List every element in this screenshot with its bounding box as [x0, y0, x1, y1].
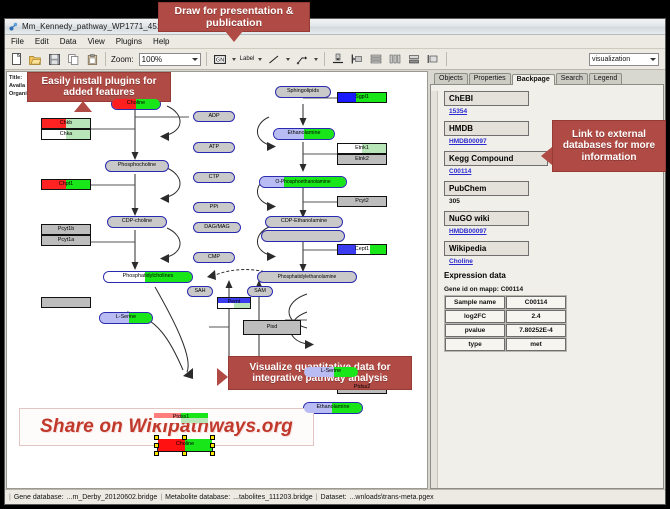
datanode-icon[interactable]: GN	[212, 51, 228, 68]
db-header-pubchem: PubChem	[444, 181, 529, 196]
status-gene-database-value: ...m_Derby_20120602.bridge	[67, 494, 158, 501]
callout-text: Link to external databases for more info…	[557, 129, 661, 164]
node-label: Phosphatidylethanolamine	[278, 275, 337, 280]
node-ethanolamine-top[interactable]: Ethanolamine	[273, 128, 335, 140]
node-pemt[interactable]: Pemt	[217, 297, 251, 309]
menu-bar[interactable]: File Edit Data View Plugins Help	[5, 35, 665, 49]
node-label: SAH	[194, 289, 205, 294]
node-choline-selected[interactable]: Choline	[157, 438, 213, 452]
node-label: Choline	[176, 442, 194, 447]
node-label: CDP-choline	[122, 219, 152, 224]
node-label: CMP	[208, 255, 220, 260]
zoom-value: 100%	[142, 55, 162, 64]
chevron-down-icon[interactable]	[258, 58, 262, 61]
db-link-nugo-wiki[interactable]: HMDB00097	[449, 228, 655, 235]
expression-data-table: Sample name C00114 log2FC 2.4 pvalue 7.8…	[444, 295, 567, 352]
selection-handle[interactable]	[154, 435, 159, 440]
line-icon[interactable]	[266, 51, 282, 68]
node-label: Pcyt1a	[58, 238, 74, 243]
node-l-serine-right[interactable]: L-Serine	[303, 366, 359, 378]
node-label: Sgpl1	[355, 95, 369, 100]
node-chka[interactable]: Chka	[41, 129, 91, 140]
node-label: Ethanolamine	[288, 131, 321, 136]
selection-handle[interactable]	[154, 451, 159, 456]
node-label: L-Serine	[116, 315, 136, 320]
node-phosphocholine[interactable]: Phosphocholine	[105, 160, 169, 172]
selection-handle[interactable]	[210, 435, 215, 440]
selection-handle[interactable]	[182, 451, 187, 456]
toolbar-separator	[206, 52, 207, 66]
node-cdp-ethanolamine-2[interactable]: CDP-Ethanolamine	[265, 216, 343, 228]
node-etnk1[interactable]: Etnk1	[337, 143, 387, 154]
new-icon[interactable]	[8, 51, 24, 68]
chevron-down-icon[interactable]	[286, 58, 290, 61]
node-label: CTP	[209, 175, 220, 180]
node-label: PPi	[210, 205, 218, 210]
toolbar-separator	[446, 52, 447, 66]
callout-link-arrow-icon	[541, 147, 552, 165]
pathvisio-icon	[9, 22, 18, 31]
toolbar-separator	[105, 52, 106, 66]
zoom-label: Zoom:	[111, 55, 134, 64]
status-dataset-value: ...wnloads\trans-meta.pgex	[350, 494, 434, 501]
save-icon[interactable]	[46, 51, 62, 68]
status-divider: |	[160, 494, 162, 501]
node-ethanolamine-bottom[interactable]: Ethanolamine	[303, 402, 363, 414]
cell-value: C00114	[506, 296, 566, 309]
callout-link: Link to external databases for more info…	[552, 120, 666, 172]
backpage-scrollbar[interactable]	[431, 91, 438, 488]
chevron-down-icon[interactable]	[192, 58, 198, 61]
node-label: Ethanolamine	[317, 405, 350, 410]
node-pcyt2[interactable]: Pcyt2	[337, 196, 387, 207]
stack-vertical-icon[interactable]	[368, 51, 384, 68]
cell-value: 2.4	[506, 310, 566, 323]
node-label: Etnk2	[355, 157, 369, 162]
common-width-icon[interactable]	[406, 51, 422, 68]
menu-view[interactable]: View	[87, 37, 106, 46]
status-metabolite-database-value: ...tabolites_111203.bridge	[233, 494, 313, 501]
toolbar-separator	[324, 52, 325, 66]
node-label: DAG/MAG	[204, 225, 229, 230]
node-label: SAM	[254, 289, 266, 294]
callout-draw-arrow-icon	[225, 31, 243, 42]
status-dataset-label: Dataset:	[321, 494, 347, 501]
tab-properties[interactable]: Properties	[469, 73, 511, 84]
node-ptdss1[interactable]: Ptdss1	[153, 412, 209, 424]
chevron-down-icon[interactable]	[314, 58, 318, 61]
node-label: Sphingolipids	[287, 89, 319, 94]
visualization-value: visualization	[592, 56, 630, 63]
visualization-combo[interactable]: visualization	[589, 53, 659, 66]
cell-key: log2FC	[445, 310, 505, 323]
status-divider: |	[9, 494, 11, 501]
db-link-chebi[interactable]: 15354	[449, 108, 655, 115]
node-label: Pcyt2	[355, 199, 368, 204]
selection-handle[interactable]	[154, 443, 159, 448]
node-label: CDP-Ethanolamine	[281, 219, 327, 224]
tab-search[interactable]: Search	[556, 73, 588, 84]
tool-bar[interactable]: Zoom: 100% GN Label	[5, 49, 665, 70]
node-label: Phosphatidylcholines	[123, 274, 174, 279]
db-header-hmdb: HMDB	[444, 121, 529, 136]
node-label: Etnk1	[355, 146, 369, 151]
cell-value: 7.80252E-4	[506, 324, 566, 337]
menu-data[interactable]: Data	[59, 37, 78, 46]
node-label: Chkb	[60, 121, 73, 126]
table-row: Sample name C00114	[445, 296, 566, 309]
node-phosphatidylcholines[interactable]: Phosphatidylcholines	[103, 271, 193, 283]
node-cdp-ethanolamine[interactable]	[261, 230, 345, 242]
tab-backpage[interactable]: Backpage	[512, 74, 555, 85]
table-row: log2FC 2.4	[445, 310, 566, 323]
node-label: Chpt1	[59, 182, 73, 187]
interaction-icon[interactable]	[294, 51, 310, 68]
callout-text: Draw for presentation & publication	[163, 5, 305, 29]
cell-key: pvalue	[445, 324, 505, 337]
node-sah[interactable]: SAH	[187, 286, 213, 297]
table-row: pvalue 7.80252E-4	[445, 324, 566, 337]
node-label: ADP	[208, 114, 219, 119]
db-value-pubchem: 305	[449, 198, 655, 205]
node-cept1[interactable]: Cept1	[337, 244, 387, 255]
callout-plugins: Easily install plugins for added feature…	[27, 72, 171, 102]
node-pcyt1b[interactable]	[41, 297, 91, 308]
node-etnk2[interactable]: Etnk2	[337, 154, 387, 165]
open-folder-icon[interactable]	[27, 51, 43, 68]
node-pisd[interactable]: Pisd	[243, 320, 301, 335]
node-label: Ptdss1	[173, 415, 189, 420]
node-ppi[interactable]: PPi	[193, 202, 235, 213]
node-atp[interactable]: ATP	[193, 142, 235, 153]
node-sphingolipids[interactable]: Sphingolipids	[275, 86, 331, 98]
node-label: Pemt	[228, 300, 241, 305]
tab-legend[interactable]: Legend	[589, 73, 622, 84]
db-header-kegg-compound: Kegg Compound	[444, 151, 548, 166]
node-phosphatidylethanolamine[interactable]: Phosphatidylethanolamine	[257, 271, 357, 283]
node-label: Phosphocholine	[118, 163, 156, 168]
node-l-serine-left[interactable]: L-Serine	[99, 312, 153, 324]
node-pcyt1a[interactable]: Pcyt1a	[41, 235, 91, 246]
db-header-nugo-wiki: NuGO wiki	[444, 211, 529, 226]
node-label: Pisd	[267, 325, 278, 330]
db-link-wikipedia[interactable]: Choline	[449, 258, 655, 265]
menu-edit[interactable]: Edit	[34, 37, 50, 46]
callout-visualize-arrow-icon	[217, 368, 228, 386]
align-left-icon[interactable]	[349, 51, 365, 68]
chevron-down-icon[interactable]	[232, 58, 236, 61]
node-ctp[interactable]: CTP	[193, 172, 235, 183]
expression-data-title: Expression data	[444, 271, 655, 280]
node-label: Choline	[127, 101, 145, 106]
db-header-chebi: ChEBI	[444, 91, 529, 106]
node-label: ATP	[209, 145, 219, 150]
menu-help[interactable]: Help	[152, 37, 170, 46]
label-dropdown-label[interactable]: Label	[240, 56, 255, 62]
menu-plugins[interactable]: Plugins	[115, 37, 143, 46]
node-pcyt1b-2[interactable]: Pcyt1b	[41, 224, 91, 235]
selection-handle[interactable]	[182, 435, 187, 440]
node-sam[interactable]: SAM	[247, 286, 273, 297]
common-height-icon[interactable]	[425, 51, 441, 68]
zoom-combo[interactable]: 100%	[139, 53, 201, 66]
align-bottom-icon[interactable]	[330, 51, 346, 68]
node-dag-mag[interactable]: DAG/MAG	[193, 222, 241, 233]
pathway-canvas[interactable]: Title: Availa Organi	[6, 71, 428, 489]
node-o-phosphoethanolamine[interactable]: O-Phosphoethanolamine	[259, 176, 347, 188]
selection-handle[interactable]	[210, 443, 215, 448]
node-cdp-choline[interactable]: CDP-choline	[107, 216, 167, 228]
paste-icon[interactable]	[84, 51, 100, 68]
cell-key: type	[445, 338, 505, 351]
callout-plugins-arrow-icon	[74, 101, 92, 112]
node-label: L-Serine	[321, 369, 341, 374]
tab-objects[interactable]: Objects	[434, 73, 468, 84]
status-gene-database-label: Gene database:	[14, 494, 64, 501]
node-label: Pcyt1b	[58, 227, 74, 232]
node-adp[interactable]: ADP	[193, 111, 235, 122]
node-label: Cept1	[355, 247, 369, 252]
node-sgpl1[interactable]: Sgpl1	[337, 92, 387, 103]
svg-text:GN: GN	[215, 57, 224, 63]
selection-handle[interactable]	[210, 451, 215, 456]
callout-draw: Draw for presentation & publication	[158, 2, 310, 32]
menu-file[interactable]: File	[10, 37, 25, 46]
gene-id-on-mapp: Gene id on mapp: C00114	[444, 286, 655, 293]
status-metabolite-database-label: Metabolite database:	[165, 494, 230, 501]
distribute-horizontal-icon[interactable]	[387, 51, 403, 68]
db-header-wikipedia: Wikipedia	[444, 241, 529, 256]
cell-value: met	[506, 338, 566, 351]
node-choline-top[interactable]: Choline	[111, 98, 161, 110]
copy-icon[interactable]	[65, 51, 81, 68]
chevron-down-icon[interactable]	[650, 58, 656, 61]
node-label: Ptdss2	[354, 385, 370, 390]
node-chpt1[interactable]: Chpt1	[41, 179, 91, 190]
node-label: Chka	[60, 132, 73, 137]
node-label: O-Phosphoethanolamine	[275, 180, 330, 185]
table-row: type met	[445, 338, 566, 351]
callout-text: Easily install plugins for added feature…	[32, 76, 166, 99]
node-cmp[interactable]: CMP	[193, 252, 235, 263]
cell-key: Sample name	[445, 296, 505, 309]
title-bar: Mm_Kennedy_pathway_WP1771_45176.gpml	[5, 19, 665, 35]
side-panel-tabs[interactable]: Objects Properties Backpage Search Legen…	[430, 71, 664, 85]
node-chkb[interactable]: Chkb	[41, 118, 91, 129]
status-divider: |	[316, 494, 318, 501]
status-bar: | Gene database: ...m_Derby_20120602.bri…	[5, 489, 665, 504]
